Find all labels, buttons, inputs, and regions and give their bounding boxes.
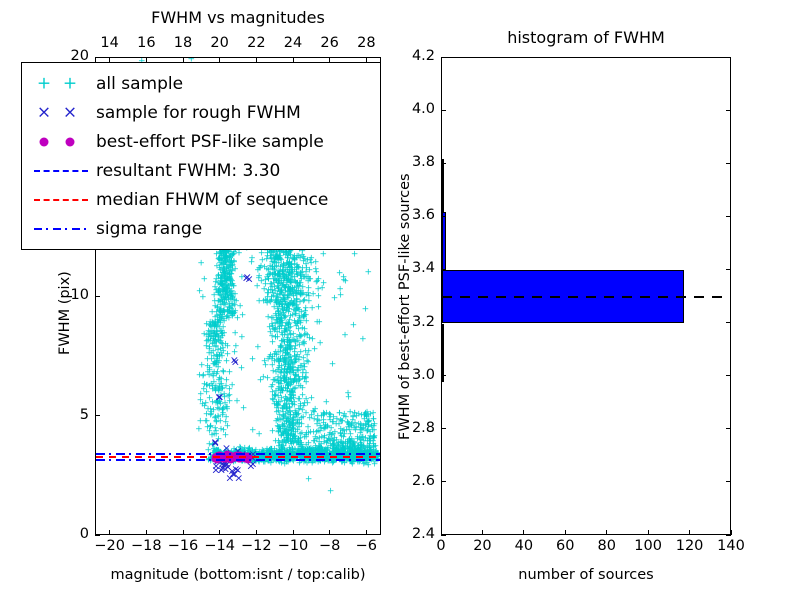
histogram-bar — [442, 324, 444, 382]
scatter-point: + — [258, 250, 266, 259]
scatter-point: + — [199, 372, 207, 381]
y-tick-mark-right — [726, 57, 731, 58]
y-tick-mark — [441, 110, 446, 111]
scatter-point: + — [197, 259, 205, 268]
scatter-point: + — [217, 345, 225, 354]
y-tick-mark — [441, 57, 446, 58]
scatter-point: + — [281, 299, 289, 308]
scatter-xlabel: magnitude (bottom:isnt / top:calib) — [95, 568, 381, 583]
y-tick-mark-right — [726, 322, 731, 323]
scatter-point: + — [305, 475, 313, 484]
x-tick-mark — [219, 530, 220, 535]
y-tick-mark — [95, 535, 100, 536]
y-tick-mark-right — [726, 269, 731, 270]
scatter-point: + — [302, 305, 310, 314]
scatter-point: × — [230, 355, 239, 366]
y-tick-label: 3.4 — [393, 261, 435, 276]
x-tick-label: −18 — [126, 539, 166, 554]
legend-item-label: median FHWM of sequence — [92, 190, 328, 210]
y-tick-mark — [95, 296, 100, 297]
scatter-point: + — [344, 389, 352, 398]
scatter-point: + — [302, 396, 310, 405]
scatter-point: + — [216, 374, 224, 383]
scatter-point: + — [289, 364, 297, 373]
y-tick-mark — [441, 269, 446, 270]
scatter-point: + — [204, 423, 212, 432]
legend-item: best-effort PSF-like sample — [30, 127, 370, 156]
scatter-point: + — [365, 269, 373, 278]
scatter-title: FWHM vs magnitudes — [95, 8, 381, 27]
scatter-point: + — [346, 427, 354, 436]
scatter-point: + — [304, 277, 312, 286]
scatter-point: + — [254, 344, 262, 353]
scatter-point: + — [229, 281, 237, 290]
histogram-bar — [442, 159, 444, 212]
legend-box: ++all sample××sample for rough FWHMbest-… — [21, 62, 381, 250]
legend-item-label: resultant FWHM: 3.30 — [92, 161, 280, 181]
x-tick-mark — [109, 530, 110, 535]
y-tick-mark — [441, 163, 446, 164]
histogram-plot-area — [442, 58, 730, 534]
scatter-point: + — [351, 251, 359, 260]
x-tick-label: −14 — [200, 539, 240, 554]
scatter-point: + — [316, 319, 324, 328]
scatter-point: + — [248, 254, 256, 263]
x-tick-mark — [183, 530, 184, 535]
x-tick-mark — [565, 530, 566, 535]
scatter-point: + — [329, 361, 337, 370]
scatter-point: × — [218, 462, 227, 473]
scatter-point: + — [226, 271, 234, 280]
scatter-point: + — [206, 337, 214, 346]
scatter-point: + — [298, 363, 306, 372]
y-tick-label: 0 — [53, 527, 89, 542]
scatter-point: + — [360, 438, 368, 447]
scatter-point: × — [244, 274, 253, 285]
top-tick-label: 18 — [163, 36, 203, 51]
top-tick-label: 14 — [90, 36, 130, 51]
scatter-point: + — [285, 427, 293, 436]
scatter-point: + — [269, 397, 277, 406]
dashdot-line-icon — [34, 228, 88, 230]
y-tick-mark-right — [726, 163, 731, 164]
scatter-point: + — [369, 410, 377, 419]
scatter-point: + — [220, 427, 228, 436]
scatter-point: + — [291, 398, 299, 407]
scatter-point: + — [217, 417, 225, 426]
scatter-point: + — [312, 259, 320, 268]
x-tick-label: −10 — [273, 539, 313, 554]
scatter-point: + — [320, 250, 328, 259]
scatter-point: + — [231, 309, 239, 318]
scatter-point: + — [285, 321, 293, 330]
sigma-range-lower-line — [96, 459, 380, 461]
scatter-point: + — [280, 280, 288, 289]
scatter-point: + — [268, 332, 276, 341]
filled-circle-icon — [40, 137, 49, 146]
x-tick-label: −6 — [346, 539, 386, 554]
y-tick-label: 2.8 — [393, 421, 435, 436]
y-tick-mark — [95, 415, 100, 416]
y-tick-mark — [95, 57, 100, 58]
histogram-axes — [441, 57, 731, 535]
scatter-point: + — [257, 376, 265, 385]
legend-item: ××sample for rough FWHM — [30, 98, 370, 127]
scatter-point: + — [262, 361, 270, 370]
x-tick-mark — [606, 530, 607, 535]
scatter-point: + — [300, 257, 308, 266]
scatter-point: + — [359, 336, 367, 345]
legend-item: sigma range — [30, 214, 370, 243]
top-tick-label: 16 — [126, 36, 166, 51]
scatter-point: + — [240, 404, 248, 413]
y-tick-mark-right — [726, 110, 731, 111]
scatter-point: + — [203, 389, 211, 398]
top-tick-label: 28 — [346, 36, 386, 51]
scatter-point: + — [249, 426, 257, 435]
y-tick-mark — [441, 428, 446, 429]
scatter-point: + — [370, 435, 378, 444]
legend-item-label: sample for rough FWHM — [92, 103, 301, 123]
y-tick-mark — [441, 322, 446, 323]
y-tick-label: 2.4 — [393, 527, 435, 542]
y-tick-label: 5 — [53, 408, 89, 423]
scatter-point: + — [195, 426, 203, 435]
y-tick-label: 3.0 — [393, 368, 435, 383]
top-tick-label: 26 — [310, 36, 350, 51]
x-tick-label: −8 — [310, 539, 350, 554]
scatter-point: + — [230, 258, 238, 267]
scatter-point: + — [199, 293, 207, 302]
x-tick-label: 140 — [709, 539, 753, 554]
scatter-point: + — [211, 314, 219, 323]
scatter-point: + — [320, 409, 328, 418]
y-tick-mark-right — [726, 428, 731, 429]
scatter-point: × — [215, 392, 224, 403]
scatter-point: + — [302, 347, 310, 356]
scatter-point: + — [291, 385, 299, 394]
scatter-point: + — [284, 410, 292, 419]
y-tick-label: 10 — [53, 288, 89, 303]
y-tick-label: 3.8 — [393, 155, 435, 170]
scatter-point: + — [276, 439, 284, 448]
top-tick-label: 22 — [236, 36, 276, 51]
scatter-point: + — [267, 351, 275, 360]
scatter-point: + — [223, 297, 231, 306]
scatter-point: + — [337, 292, 345, 301]
cross-x-icon: × — [37, 104, 51, 121]
x-tick-label: −16 — [163, 539, 203, 554]
scatter-point: + — [362, 306, 370, 315]
scatter-point: + — [276, 377, 284, 386]
x-tick-label: 80 — [585, 539, 629, 554]
legend-key — [30, 217, 92, 241]
scatter-point: + — [292, 343, 300, 352]
scatter-point: + — [336, 410, 344, 419]
x-tick-mark — [293, 530, 294, 535]
y-tick-mark — [441, 375, 446, 376]
y-tick-mark-right — [726, 535, 731, 536]
x-tick-mark — [689, 530, 690, 535]
x-tick-label: 20 — [460, 539, 504, 554]
legend-key — [30, 159, 92, 183]
scatter-ylabel: FWHM (pix) — [58, 271, 73, 355]
x-tick-mark — [256, 530, 257, 535]
y-tick-label: 3.2 — [393, 315, 435, 330]
legend-key — [30, 130, 92, 154]
histogram-bar — [442, 212, 446, 270]
y-tick-label: 4.2 — [393, 49, 435, 64]
scatter-point: + — [323, 398, 331, 407]
y-tick-label: 2.6 — [393, 474, 435, 489]
x-tick-label: 100 — [626, 539, 670, 554]
scatter-point: + — [232, 342, 240, 351]
y-tick-mark-right — [726, 216, 731, 217]
filled-circle-icon — [66, 137, 75, 146]
y-tick-mark — [441, 535, 446, 536]
legend-item-label: all sample — [92, 74, 183, 94]
scatter-point: + — [294, 319, 302, 328]
scatter-point: + — [272, 388, 280, 397]
dashed-line-icon — [34, 199, 88, 201]
scatter-point: + — [275, 312, 283, 321]
scatter-point: + — [350, 322, 358, 331]
x-tick-label: −12 — [236, 539, 276, 554]
scatter-point: + — [294, 280, 302, 289]
histogram-title: histogram of FWHM — [441, 28, 731, 47]
figure-canvas: ++++++++++++++++++++++++++++++++++++++++… — [0, 0, 800, 600]
x-tick-mark — [523, 530, 524, 535]
legend-item: resultant FWHM: 3.30 — [30, 156, 370, 185]
y-tick-mark-right — [726, 481, 731, 482]
legend-item-label: sigma range — [92, 219, 202, 239]
cross-x-icon: × — [63, 104, 77, 121]
scatter-point: + — [249, 356, 257, 365]
scatter-point: + — [299, 373, 307, 382]
plus-icon: + — [63, 75, 77, 92]
legend-key — [30, 188, 92, 212]
x-tick-mark — [146, 530, 147, 535]
scatter-point: + — [228, 382, 236, 391]
plus-icon: + — [37, 75, 51, 92]
median-fwhm-line — [96, 456, 380, 458]
legend-item-label: best-effort PSF-like sample — [92, 132, 324, 152]
scatter-point: + — [201, 276, 209, 285]
y-tick-mark — [441, 481, 446, 482]
scatter-point: + — [340, 274, 348, 283]
scatter-point: + — [296, 420, 304, 429]
scatter-point: + — [307, 428, 315, 437]
scatter-point: + — [327, 487, 335, 496]
scatter-point: + — [311, 345, 319, 354]
x-tick-mark — [366, 530, 367, 535]
scatter-point: + — [216, 286, 224, 295]
y-tick-label: 3.6 — [393, 208, 435, 223]
x-tick-label: −20 — [90, 539, 130, 554]
scatter-point: × — [211, 436, 220, 447]
legend-item: median FHWM of sequence — [30, 185, 370, 214]
x-tick-mark — [648, 530, 649, 535]
scatter-point: + — [265, 289, 273, 298]
scatter-point: + — [287, 439, 295, 448]
scatter-point: + — [314, 286, 322, 295]
scatter-point: + — [341, 332, 349, 341]
scatter-point: + — [276, 426, 284, 435]
scatter-point: + — [330, 441, 338, 450]
scatter-point: + — [273, 300, 281, 309]
x-tick-label: 40 — [502, 539, 546, 554]
top-tick-label: 20 — [200, 36, 240, 51]
histogram-resultant-fwhm-line — [442, 296, 730, 298]
scatter-point: + — [331, 428, 339, 437]
scatter-point: + — [231, 329, 239, 338]
y-tick-mark — [441, 216, 446, 217]
scatter-point: × — [234, 472, 243, 483]
scatter-point: + — [315, 304, 323, 313]
legend-item: ++all sample — [30, 69, 370, 98]
scatter-point: + — [214, 298, 222, 307]
scatter-point: + — [316, 423, 324, 432]
scatter-point: + — [281, 339, 289, 348]
scatter-point: + — [280, 268, 288, 277]
x-tick-mark — [329, 530, 330, 535]
y-tick-mark-right — [726, 375, 731, 376]
dashed-line-icon — [34, 170, 88, 172]
scatter-point: + — [287, 270, 295, 279]
x-tick-label: 60 — [543, 539, 587, 554]
scatter-point: + — [238, 333, 246, 342]
scatter-point: + — [369, 426, 377, 435]
legend-key: ++ — [30, 72, 92, 96]
x-tick-mark — [482, 530, 483, 535]
scatter-point: + — [197, 397, 205, 406]
y-tick-label: 4.0 — [393, 102, 435, 117]
scatter-point: + — [256, 265, 264, 274]
histogram-xlabel: number of sources — [441, 568, 731, 583]
legend-key: ×× — [30, 101, 92, 125]
sigma-range-upper-line — [96, 453, 380, 455]
top-tick-label: 24 — [273, 36, 313, 51]
x-tick-label: 120 — [668, 539, 712, 554]
